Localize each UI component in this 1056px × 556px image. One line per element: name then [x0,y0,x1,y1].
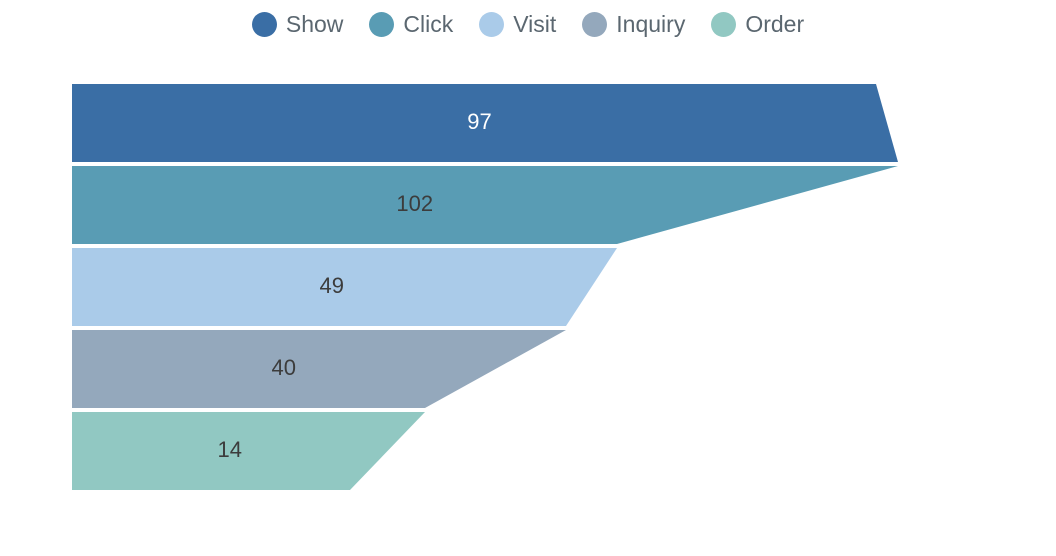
funnel-value-click: 102 [396,191,433,216]
funnel-segment-click[interactable] [72,166,898,244]
funnel-segment-visit[interactable] [72,248,617,326]
funnel-svg: 97102494014 [0,0,1056,556]
funnel-value-order: 14 [218,437,242,462]
funnel-chart: Show Click Visit Inquiry Order 971024940… [0,0,1056,556]
funnel-segment-order[interactable] [72,412,425,490]
funnel-segment-inquiry[interactable] [72,330,566,408]
funnel-value-show: 97 [467,109,491,134]
funnel-plot-area: 97102494014 [0,0,1056,556]
funnel-value-inquiry: 40 [272,355,296,380]
funnel-value-visit: 49 [320,273,344,298]
